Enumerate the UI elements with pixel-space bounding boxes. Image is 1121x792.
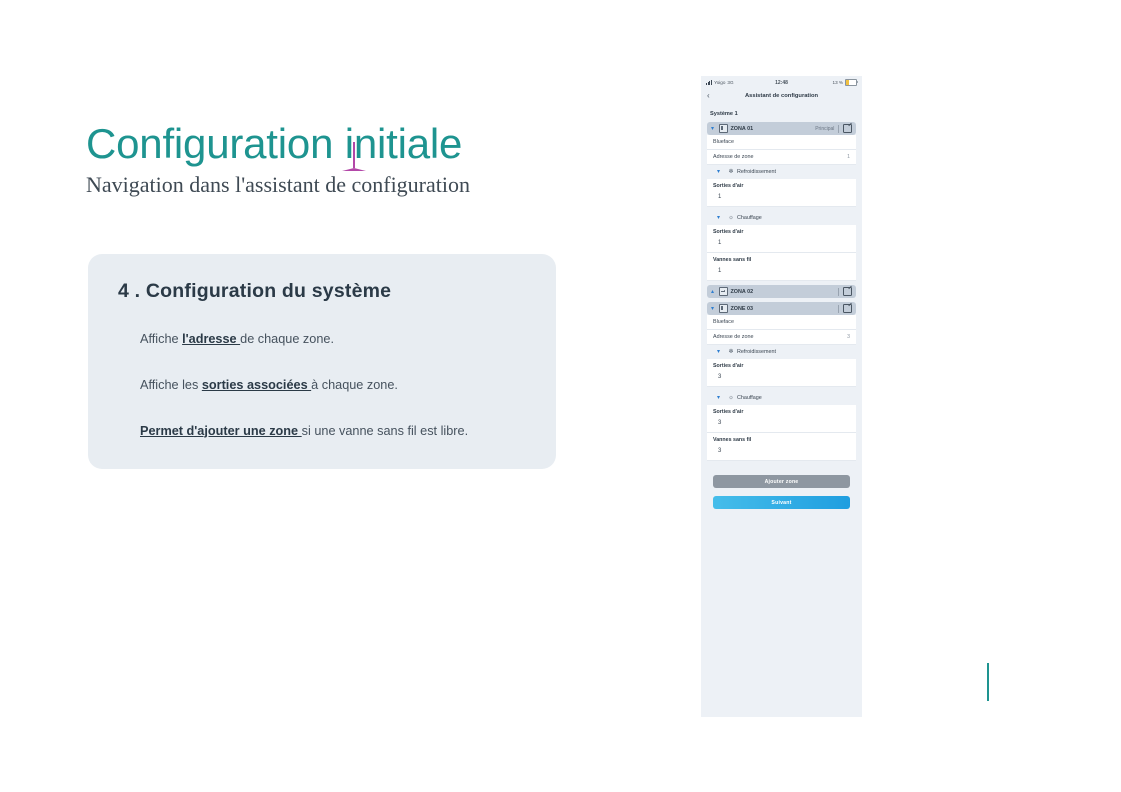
field-label: Vannes sans fil xyxy=(713,437,850,443)
app-header: ‹ Assistant de configuration xyxy=(701,89,862,103)
field-value: 3 xyxy=(713,448,850,454)
zone-header-row[interactable]: ▴ ZONA 02 xyxy=(707,285,856,298)
bullet-suffix: si une vanne sans fil est libre. xyxy=(302,424,468,438)
zone-name-label: ZONA 02 xyxy=(731,289,839,295)
cooling-section-title: Refroidissement xyxy=(737,349,776,355)
zone-address-label: Adresse de zone xyxy=(713,334,753,340)
add-zone-button[interactable]: Ajouter zone xyxy=(713,475,850,488)
thermostat-lite-icon xyxy=(719,287,728,296)
zone-list: ▾ ZONA 01 Principal Blueface Adresse de … xyxy=(701,122,862,461)
chevron-down-icon[interactable]: ▾ xyxy=(717,169,725,175)
bullet-emphasis: sorties associées xyxy=(202,378,311,392)
field-label: Sorties d'air xyxy=(713,409,850,415)
bullet-prefix: Affiche les xyxy=(140,378,202,392)
info-card: 4 . Configuration du système Affiche l'a… xyxy=(88,254,556,469)
blueface-thermostat-icon xyxy=(719,124,728,133)
divider xyxy=(838,305,839,313)
zone-address-label: Adresse de zone xyxy=(713,154,753,160)
chevron-down-icon[interactable]: ▾ xyxy=(711,306,719,312)
zone-name-label: ZONA 01 xyxy=(731,126,816,132)
status-bar-right: 13 % xyxy=(788,79,857,86)
phone-action-buttons: Ajouter zone Suivant xyxy=(701,461,862,519)
snowflake-icon: ❄ xyxy=(728,169,734,175)
heating-section-header[interactable]: ▾ ☼ Chauffage xyxy=(707,391,856,405)
battery-percentage-label: 13 % xyxy=(833,80,843,85)
chevron-up-icon[interactable]: ▴ xyxy=(711,289,719,295)
zone-header-row[interactable]: ▾ ZONA 01 Principal xyxy=(707,122,856,135)
bullet-emphasis: Permet d'ajouter une zone xyxy=(140,424,302,438)
zone-address-value: 3 xyxy=(847,334,850,340)
title-text-cursor xyxy=(353,142,355,168)
page-text-cursor xyxy=(987,663,989,701)
field-label: Sorties d'air xyxy=(713,229,850,235)
battery-icon xyxy=(845,79,857,86)
signal-strength-icon xyxy=(706,80,712,85)
zone-address-value: 1 xyxy=(847,154,850,160)
system-label: Système 1 xyxy=(701,103,862,122)
card-heading: 4 . Configuration du système xyxy=(118,280,526,303)
carrier-label: Yoigo xyxy=(714,80,725,85)
field-value: 3 xyxy=(713,374,850,380)
bullet-suffix: de chaque zone. xyxy=(240,332,334,346)
network-type-label: 3G xyxy=(727,80,733,85)
zone-name-label: ZONE 03 xyxy=(731,306,839,312)
field-block[interactable]: Sorties d'air 1 xyxy=(707,225,856,253)
phone-mockup: Yoigo 3G 12:48 13 % ‹ Assistant de confi… xyxy=(701,76,862,717)
edit-zone-icon[interactable] xyxy=(843,124,852,133)
device-row: Blueface xyxy=(707,315,856,330)
zone-tag-label: Principal xyxy=(815,126,834,132)
bullet-prefix: Affiche xyxy=(140,332,182,346)
field-value: 3 xyxy=(713,420,850,426)
field-label: Sorties d'air xyxy=(713,183,850,189)
cooling-section-header[interactable]: ▾ ❄ Refroidissement xyxy=(707,165,856,179)
heating-section-header[interactable]: ▾ ☼ Chauffage xyxy=(707,211,856,225)
zone-address-row[interactable]: Adresse de zone 3 xyxy=(707,330,856,345)
card-bullet: Affiche l'adresse de chaque zone. xyxy=(140,331,526,349)
status-bar-left: Yoigo 3G xyxy=(706,80,775,85)
edit-zone-icon[interactable] xyxy=(843,304,852,313)
zone-header-row[interactable]: ▾ ZONE 03 xyxy=(707,302,856,315)
cooling-section-title: Refroidissement xyxy=(737,169,776,175)
heating-section-title: Chauffage xyxy=(737,395,762,401)
cooling-section-header[interactable]: ▾ ❄ Refroidissement xyxy=(707,345,856,359)
field-block[interactable]: Sorties d'air 3 xyxy=(707,405,856,433)
field-value: 1 xyxy=(713,240,850,246)
zone-address-row[interactable]: Adresse de zone 1 xyxy=(707,150,856,165)
edit-zone-icon[interactable] xyxy=(843,287,852,296)
snowflake-icon: ❄ xyxy=(728,349,734,355)
divider xyxy=(838,288,839,296)
device-row: Blueface xyxy=(707,135,856,150)
page-subtitle: Navigation dans l'assistant de configura… xyxy=(86,172,470,198)
field-block[interactable]: Sorties d'air 3 xyxy=(707,359,856,387)
divider xyxy=(838,125,839,133)
sun-icon: ☼ xyxy=(728,395,734,401)
clock-label: 12:48 xyxy=(775,80,788,86)
heating-section-title: Chauffage xyxy=(737,215,762,221)
chevron-down-icon[interactable]: ▾ xyxy=(717,349,725,355)
field-value: 1 xyxy=(713,194,850,200)
field-label: Sorties d'air xyxy=(713,363,850,369)
chevron-down-icon[interactable]: ▾ xyxy=(717,395,725,401)
bullet-suffix: à chaque zone. xyxy=(311,378,398,392)
page-title: Configuration initiale xyxy=(86,120,462,168)
blueface-thermostat-icon xyxy=(719,304,728,313)
field-value: 1 xyxy=(713,268,850,274)
device-name-label: Blueface xyxy=(713,319,734,325)
card-bullet: Affiche les sorties associées à chaque z… xyxy=(140,377,526,395)
chevron-down-icon[interactable]: ▾ xyxy=(717,215,725,221)
field-block[interactable]: Sorties d'air 1 xyxy=(707,179,856,207)
chevron-down-icon[interactable]: ▾ xyxy=(711,126,719,132)
app-header-title: Assistant de configuration xyxy=(701,93,862,99)
next-button[interactable]: Suivant xyxy=(713,496,850,509)
field-block[interactable]: Vannes sans fil 3 xyxy=(707,433,856,461)
field-block[interactable]: Vannes sans fil 1 xyxy=(707,253,856,281)
card-bullet: Permet d'ajouter une zone si une vanne s… xyxy=(140,423,526,441)
status-bar: Yoigo 3G 12:48 13 % xyxy=(701,76,862,89)
sun-icon: ☼ xyxy=(728,215,734,221)
bullet-emphasis: l'adresse xyxy=(182,332,240,346)
device-name-label: Blueface xyxy=(713,139,734,145)
field-label: Vannes sans fil xyxy=(713,257,850,263)
